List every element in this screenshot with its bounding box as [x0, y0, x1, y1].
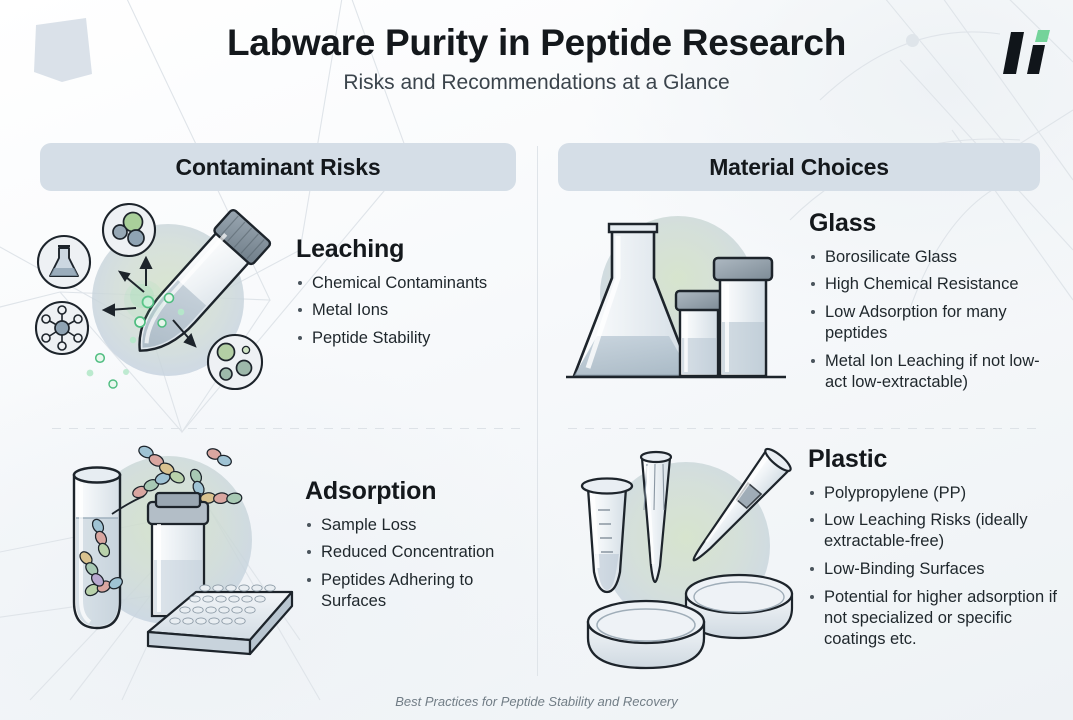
- column-material-choices: Material Choices: [558, 143, 1040, 191]
- list-item: Reduced Concentration: [305, 542, 530, 563]
- list-item: Low Adsorption for many peptides: [809, 302, 1058, 344]
- plastic-bullets: Polypropylene (PP) Low Leaching Risks (i…: [808, 483, 1058, 651]
- column-contaminant-risks: Contaminant Risks: [40, 143, 516, 191]
- list-item: Chemical Contaminants: [296, 273, 530, 294]
- section-heading-contaminant-risks: Contaminant Risks: [40, 143, 516, 191]
- list-item: Potential for higher adsorption if not s…: [808, 587, 1058, 650]
- li-brand-logo[interactable]: [997, 28, 1051, 78]
- glass-text: Glass Borosilicate Glass High Chemical R…: [809, 196, 1058, 400]
- block-leaching: Leaching Chemical Contaminants Metal Ion…: [40, 200, 530, 400]
- list-item: Sample Loss: [305, 515, 530, 536]
- section-heading-material-choices: Material Choices: [558, 143, 1040, 191]
- test-tube: [74, 468, 120, 629]
- adsorption-bullets: Sample Loss Reduced Concentration Peptid…: [305, 515, 530, 613]
- right-block-divider: [568, 428, 1040, 429]
- plastic-title: Plastic: [808, 446, 1058, 474]
- adsorption-illustration: [40, 440, 305, 655]
- list-item: Low Leaching Risks (ideally extractable-…: [808, 510, 1058, 552]
- large-vial: [714, 258, 772, 376]
- block-adsorption: Adsorption Sample Loss Reduced Concentra…: [40, 440, 530, 655]
- plastic-text: Plastic Polypropylene (PP) Low Leaching …: [808, 436, 1058, 657]
- footer-caption: Best Practices for Peptide Stability and…: [0, 694, 1073, 709]
- glass-bullets: Borosilicate Glass High Chemical Resista…: [809, 247, 1058, 394]
- column-divider: [537, 146, 538, 676]
- leaching-illustration: [40, 200, 290, 400]
- badge-flask: [38, 236, 90, 288]
- block-plastic: Plastic Polypropylene (PP) Low Leaching …: [558, 436, 1058, 666]
- glass-illustration: [558, 196, 803, 401]
- list-item: High Chemical Resistance: [809, 274, 1058, 295]
- list-item: Polypropylene (PP): [808, 483, 1058, 504]
- list-item: Borosilicate Glass: [809, 247, 1058, 268]
- petri-dish-front: [588, 601, 704, 668]
- adsorption-text: Adsorption Sample Loss Reduced Concentra…: [305, 440, 530, 619]
- block-glass: Glass Borosilicate Glass High Chemical R…: [558, 196, 1058, 401]
- list-item: Metal Ions: [296, 300, 530, 321]
- left-block-divider: [52, 428, 520, 429]
- leaching-bullets: Chemical Contaminants Metal Ions Peptide…: [296, 273, 530, 350]
- leaching-text: Leaching Chemical Contaminants Metal Ion…: [296, 200, 530, 356]
- list-item: Peptides Adhering to Surfaces: [305, 570, 530, 612]
- badge-molecule: [36, 302, 88, 354]
- list-item: Metal Ion Leaching if not low-act low-ex…: [809, 351, 1058, 393]
- leaching-title: Leaching: [296, 236, 530, 264]
- glass-title: Glass: [809, 210, 1058, 238]
- plastic-illustration: [558, 436, 808, 666]
- adsorption-title: Adsorption: [305, 478, 530, 506]
- infographic-root: Labware Purity in Peptide Research Risks…: [0, 0, 1073, 720]
- page-title: Labware Purity in Peptide Research: [0, 22, 1073, 63]
- badge-bubbles: [103, 204, 155, 256]
- small-vial: [676, 291, 722, 376]
- page-header: Labware Purity in Peptide Research Risks…: [0, 22, 1073, 96]
- page-subtitle: Risks and Recommendations at a Glance: [0, 70, 1073, 95]
- badge-particles: [208, 335, 262, 389]
- list-item: Low-Binding Surfaces: [808, 559, 1058, 580]
- list-item: Peptide Stability: [296, 328, 530, 349]
